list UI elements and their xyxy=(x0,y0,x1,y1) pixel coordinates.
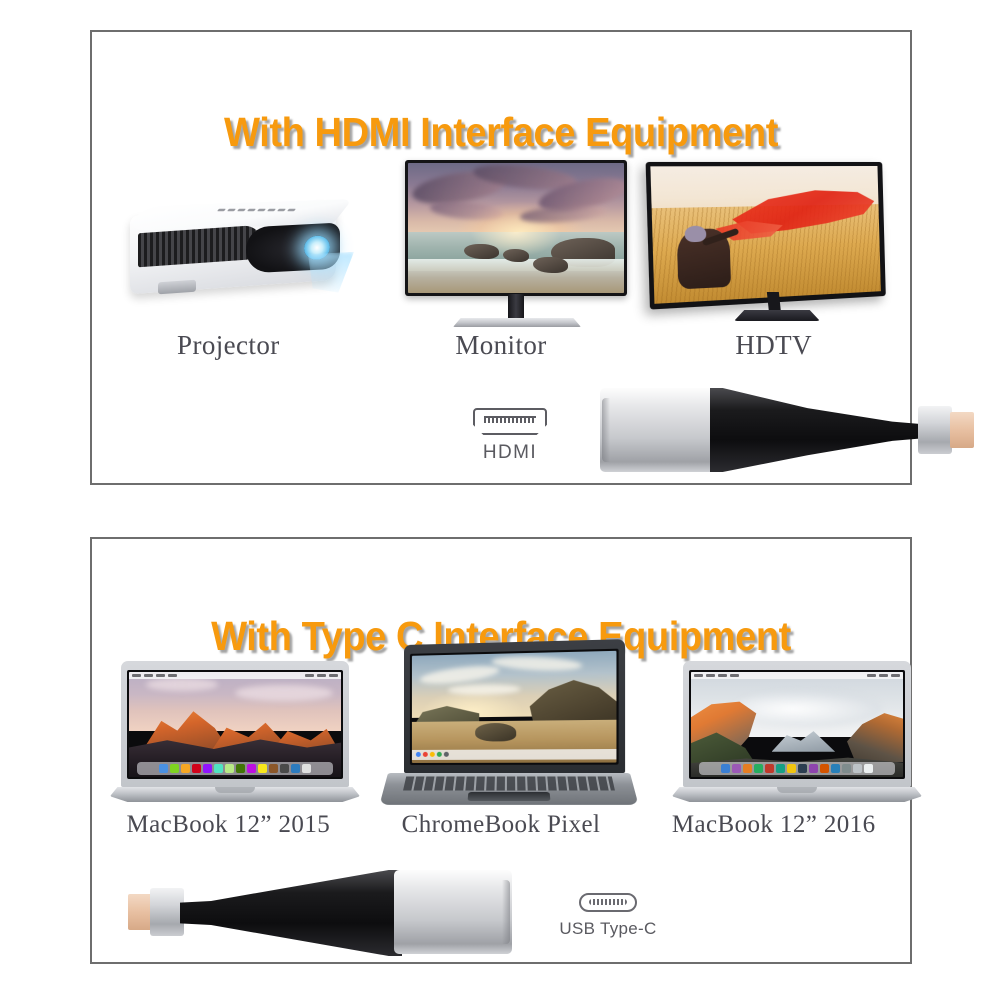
elcapitan-wallpaper-clouds xyxy=(733,691,881,727)
macbook-2015-image xyxy=(110,661,360,813)
macbook-2016-screen xyxy=(691,672,903,777)
chromebook-keyboard xyxy=(403,777,614,791)
macbook-2016-bezel xyxy=(689,670,905,779)
chromebook-bezel xyxy=(410,649,619,765)
hdtv-bezel xyxy=(646,162,886,310)
hdmi-port-icon xyxy=(473,408,547,435)
macbook-2015-lid-notch xyxy=(215,787,255,793)
hdtv-stand-base xyxy=(734,310,820,321)
monitor-stand-neck xyxy=(508,294,524,322)
chromebook-screen xyxy=(412,651,617,763)
adapter-hdmi-female-port xyxy=(394,870,512,954)
macos-dock xyxy=(699,762,894,775)
macbook-2015-bezel xyxy=(127,670,343,779)
projector-lens-housing xyxy=(246,223,340,274)
sierra-wallpaper-cloud xyxy=(235,685,333,702)
projector-control-buttons xyxy=(214,205,314,215)
adapter-cable-body xyxy=(180,870,402,956)
typec-device-labels: MacBook 12” 2015 ChromeBook Pixel MacBoo… xyxy=(92,811,910,839)
chromebook-lid xyxy=(404,639,625,773)
adapter-usbc-collar xyxy=(918,406,952,454)
usbc-to-hdmi-adapter xyxy=(128,866,540,966)
macos-menu-bar xyxy=(691,672,903,679)
device-label-monitor: Monitor xyxy=(365,330,638,361)
monitor-screen xyxy=(408,163,624,293)
projector-image xyxy=(122,177,372,327)
device-label-chromebook-pixel: ChromeBook Pixel xyxy=(365,811,638,839)
device-label-macbook-2016: MacBook 12” 2016 xyxy=(637,811,910,839)
projector-light-beam xyxy=(308,252,354,294)
adapter-usbc-connector-tip xyxy=(128,894,152,930)
infographic-canvas: With HDMI Interface Equipment xyxy=(0,0,1002,1002)
panel-hdmi-title: With HDMI Interface Equipment xyxy=(121,109,882,156)
monitor-wallpaper-rock xyxy=(464,244,499,260)
adapter-cable-body xyxy=(710,388,922,472)
macos-dock xyxy=(137,762,332,775)
sierra-wallpaper-cloud xyxy=(146,678,218,691)
hdmi-device-labels: Projector Monitor HDTV xyxy=(92,330,910,361)
hdmi-to-usbc-adapter xyxy=(600,380,1000,480)
monitor-stand-base xyxy=(453,318,581,327)
adapter-hdmi-female-port xyxy=(600,388,718,472)
hdmi-port-pins xyxy=(484,416,536,423)
usb-type-c-port-label: USB Type-C xyxy=(548,919,668,939)
monitor-wallpaper-shore xyxy=(408,259,624,293)
chromeos-shelf xyxy=(412,749,617,760)
adapter-usbc-connector-tip xyxy=(950,412,974,448)
adapter-usbc-collar xyxy=(150,888,184,936)
monitor-image xyxy=(397,160,637,328)
hdtv-image xyxy=(662,162,894,328)
macbook-2015-base xyxy=(110,787,360,802)
projector-foot xyxy=(158,280,196,295)
device-label-hdtv: HDTV xyxy=(637,330,910,361)
hdmi-port-label: HDMI xyxy=(455,442,565,464)
hdtv-screen xyxy=(650,166,880,304)
macbook-2016-image xyxy=(672,661,922,813)
usb-type-c-port-icon xyxy=(579,893,637,912)
device-label-macbook-2015: MacBook 12” 2015 xyxy=(92,811,365,839)
chromebook-keyboard-deck xyxy=(379,773,638,805)
macbook-2016-lid-notch xyxy=(777,787,817,793)
device-label-projector: Projector xyxy=(92,330,365,361)
usb-type-c-port-icon-group: USB Type-C xyxy=(548,893,668,939)
macbook-2016-lid xyxy=(683,661,911,787)
chromebook-pixel-image xyxy=(384,645,634,821)
macbook-2016-base xyxy=(672,787,922,802)
chromeos-wallpaper-rock xyxy=(476,723,517,741)
monitor-wallpaper-rock xyxy=(503,249,529,262)
chromebook-trackpad xyxy=(468,792,550,801)
monitor-bezel xyxy=(405,160,627,296)
macbook-2015-lid xyxy=(121,661,349,787)
hdmi-port-icon-group: HDMI xyxy=(455,408,565,464)
usb-type-c-port-pins xyxy=(589,899,627,905)
macos-menu-bar xyxy=(129,672,341,679)
macbook-2015-screen xyxy=(129,672,341,777)
